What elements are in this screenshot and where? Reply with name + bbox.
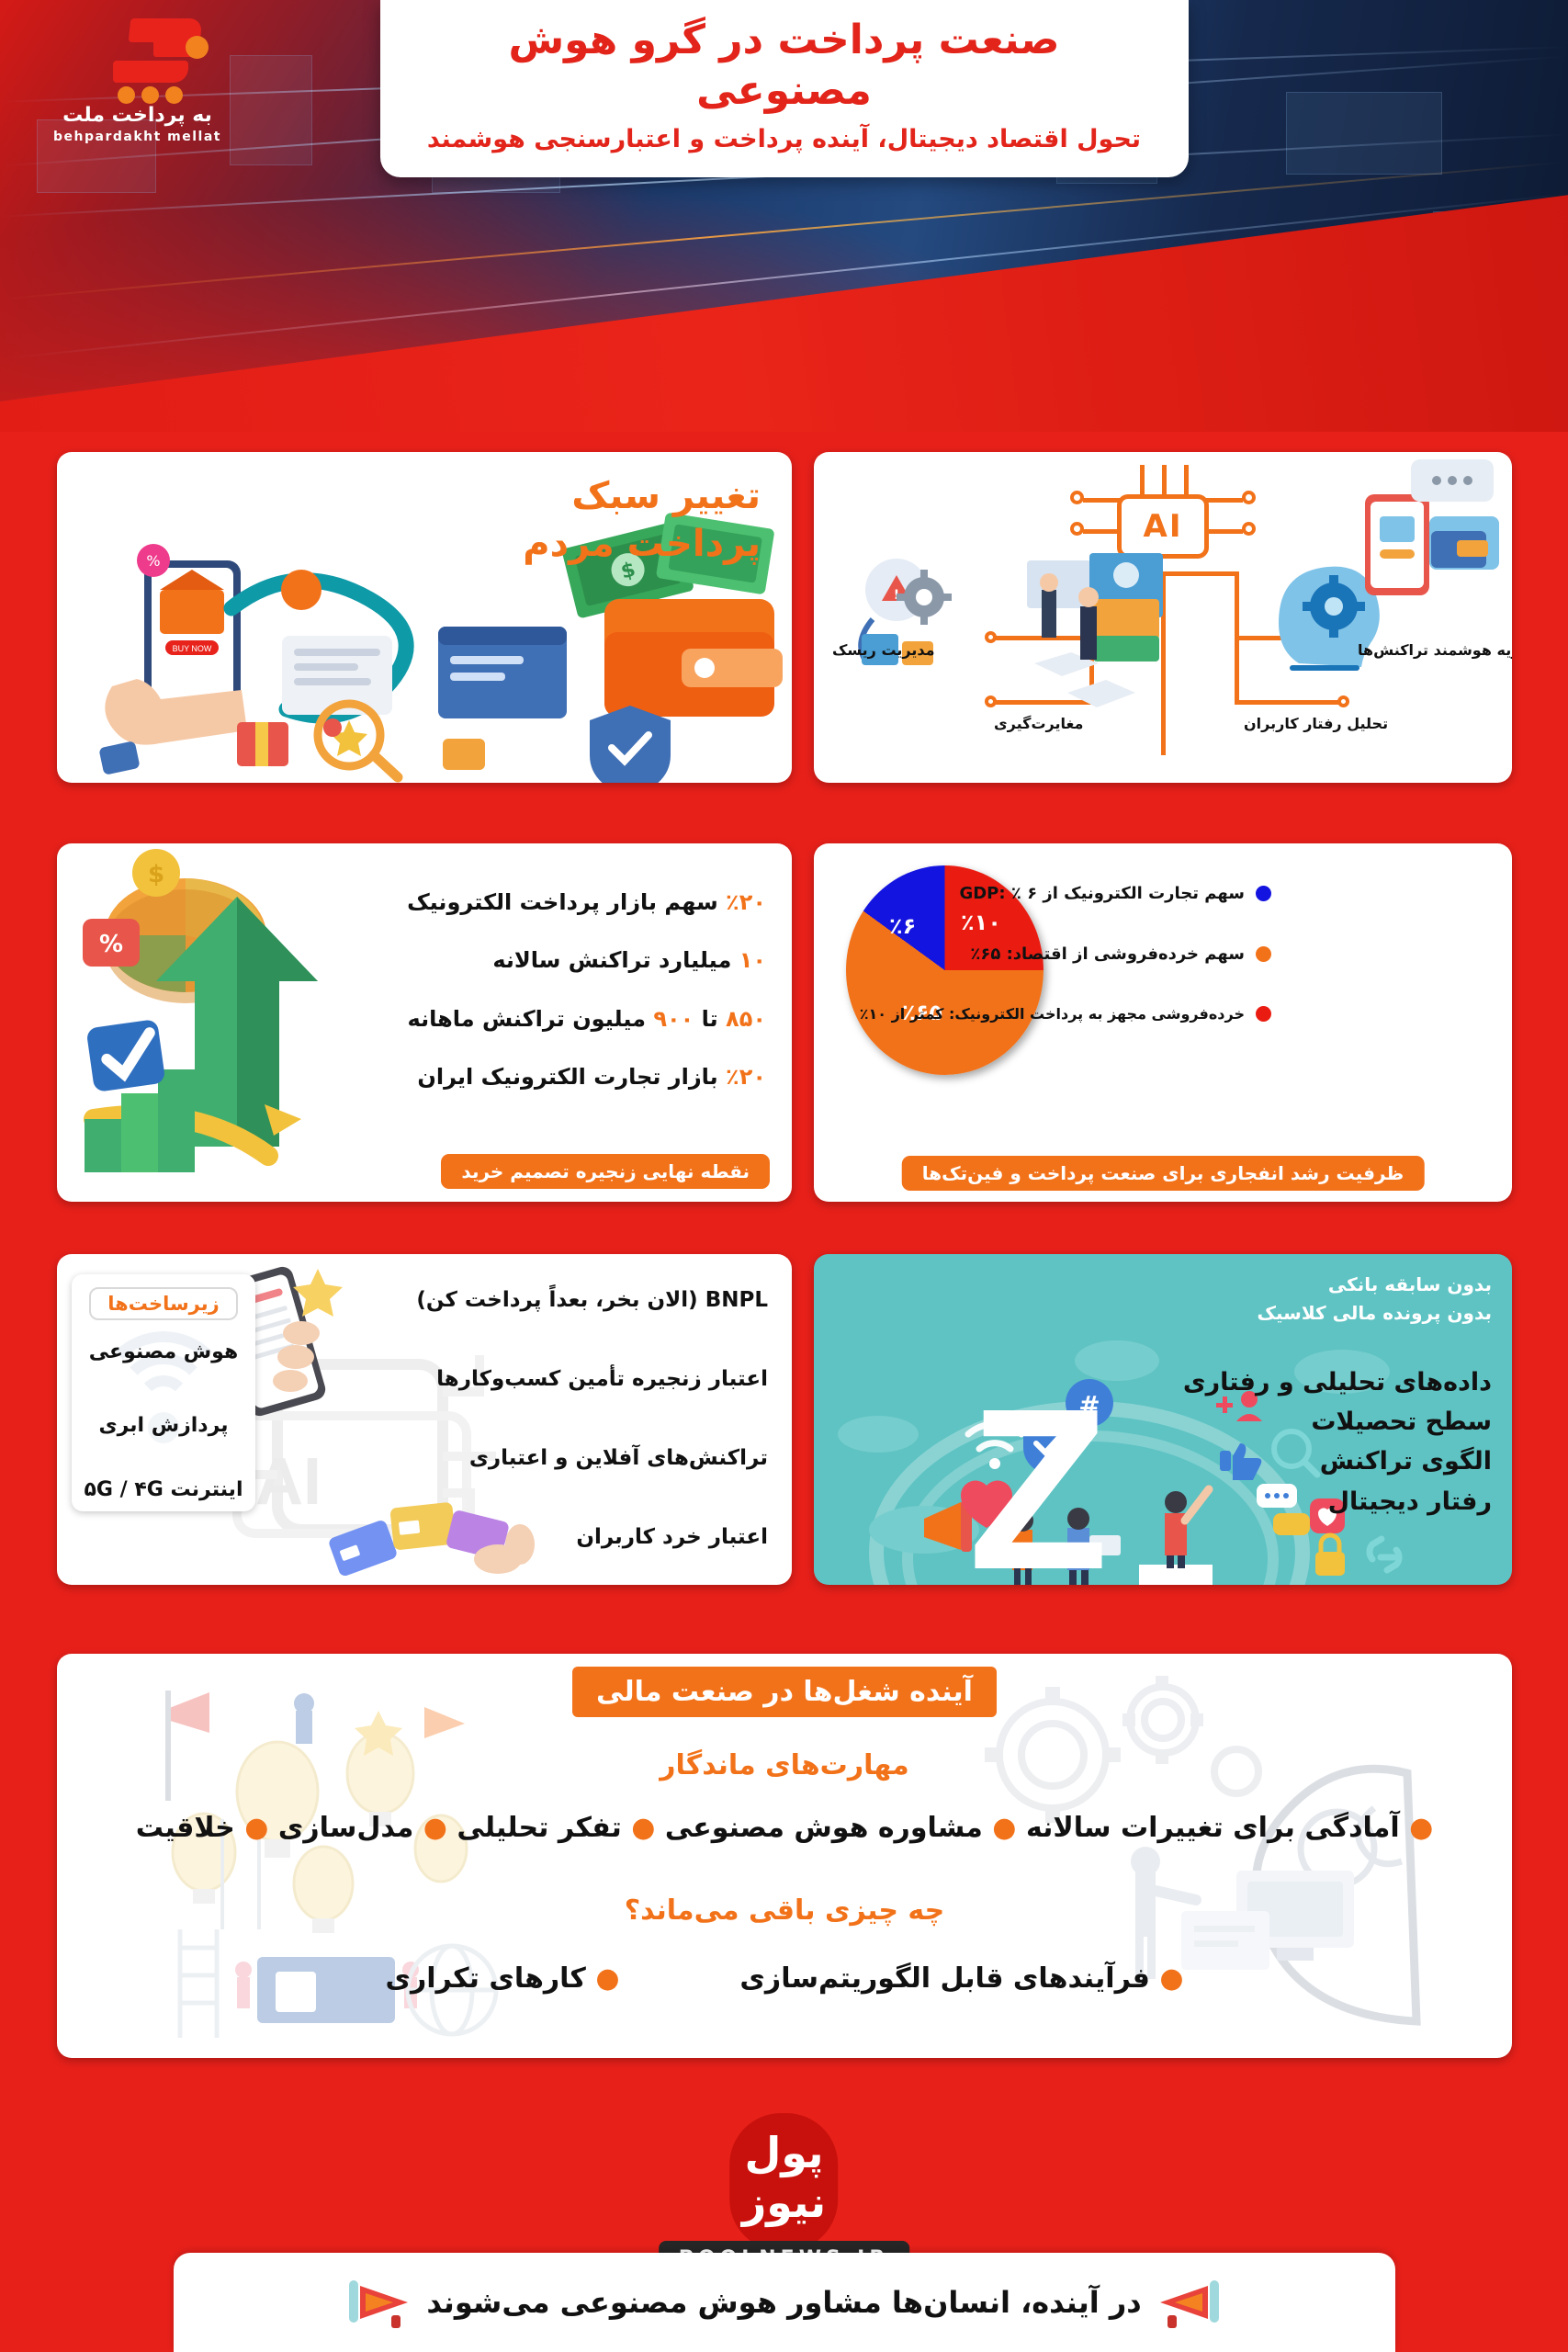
page-title: صنعت پرداخت در گرو هوش مصنوعی <box>417 15 1152 116</box>
pie-banner-wrap: ظرفیت رشد انفجاری برای صنعت پرداخت و فین… <box>902 1156 1425 1191</box>
skill-item: تفکر تحلیلی <box>457 1812 621 1844</box>
ai-label-reconciliation: مغایرت‌گیری <box>994 715 1083 732</box>
bullet-icon: ● <box>423 1812 447 1844</box>
legend-label: خرده‌فروشی مجهز به پرداخت الکترونیک: کمت… <box>860 1005 1245 1023</box>
card-ai-diagram: AI ! <box>814 452 1512 783</box>
growth-illustration: $ % <box>57 843 378 1202</box>
infra-item-cloud: پردازش ابری <box>72 1414 255 1437</box>
card-market-stats: $ % ٪۲۰ سهم بازار پرداخت الکترونیک ۱۰ می… <box>57 843 792 1202</box>
stat-row: ۱۰ میلیارد تراکنش سالانه <box>399 945 766 975</box>
future-jobs-question: چه چیزی باقی می‌ماند؟ <box>625 1894 944 1927</box>
future-jobs-title: آینده شغل‌ها در صنعت مالی <box>572 1667 997 1717</box>
megaphone-icon-right <box>1156 2278 1217 2326</box>
bnpl-row: BNPL (الان بخر، بعداً پرداخت کن) <box>336 1287 768 1315</box>
bnpl-row: تراکنش‌های آفلاین و اعتباری <box>336 1445 768 1473</box>
bullet-icon: ● <box>1409 1812 1433 1844</box>
poolnews-logo-fa: پول نیوز <box>730 2128 839 2227</box>
ideas-illustration <box>149 1654 590 2058</box>
bullet-icon: ● <box>992 1812 1016 1844</box>
bottom-banner-text: در آینده، انسان‌ها مشاور هوش مصنوعی می‌ش… <box>426 2285 1141 2320</box>
bottom-banner: در آینده، انسان‌ها مشاور هوش مصنوعی می‌ش… <box>174 2253 1395 2352</box>
behpardakht-mellat-logo: به پرداخت ملت behpardakht mellat <box>39 13 236 160</box>
logo-text-en: behpardakht mellat <box>39 130 236 144</box>
stat-number-b: ۹۰۰ <box>653 1006 694 1032</box>
card-payment-style-title: تغییر سبک پرداخت مردم <box>523 472 761 568</box>
stat-text: سهم بازار پرداخت الکترونیک <box>407 889 718 915</box>
payment-style-line1: تغییر سبک <box>571 475 761 517</box>
stat-row: ۸۵۰ تا ۹۰۰ میلیون تراکنش ماهانه <box>399 1004 766 1034</box>
stat-number-a: ۸۵۰ <box>726 1006 766 1032</box>
legend-label: سهم خرده‌فروشی از اقتصاد: ۶۵٪ <box>970 944 1245 964</box>
genz-items-list: داده‌های تحلیلی و رفتاری سطح تحصیلات الگ… <box>1183 1363 1492 1521</box>
header-banner: به پرداخت ملت behpardakht mellat صنعت پر… <box>0 0 1568 432</box>
stat-row: ٪۲۰ بازار تجارت الکترونیک ایران <box>399 1062 766 1091</box>
skill-item: مدل‌سازی <box>278 1812 413 1844</box>
infra-item-ai: هوش مصنوعی <box>72 1340 255 1363</box>
future-jobs-skills-row: ● آمادگی برای تغییرات سالانه ● مشاوره هو… <box>57 1812 1512 1844</box>
svg-text:%: % <box>99 931 123 958</box>
svg-text:$: $ <box>148 861 164 888</box>
card-future-jobs: آینده شغل‌ها در صنعت مالی مهارت‌های ماند… <box>57 1654 1512 2058</box>
page-subtitle: تحول اقتصاد دیجیتال، آینده پرداخت و اعتب… <box>417 125 1152 153</box>
skill-item: آمادگی برای تغییرات سالانه <box>1026 1812 1400 1844</box>
infrastructure-box: زیرساخت‌ها هوش مصنوعی پردازش ابری اینترن… <box>72 1274 255 1511</box>
leftover-item: فرآیندهای قابل الگوریتم‌سازی <box>739 1962 1149 1995</box>
bullet-icon: ● <box>595 1962 619 1995</box>
future-jobs-subtitle: مهارت‌های ماندگار <box>660 1749 908 1781</box>
bnpl-list: BNPL (الان بخر، بعداً پرداخت کن) اعتبار … <box>336 1287 768 1552</box>
market-stats-banner: نقطه نهایی زنجیره تصمیم خرید <box>441 1154 770 1189</box>
megaphone-icon-left <box>351 2278 412 2326</box>
stat-mid: تا <box>702 1006 718 1032</box>
title-card: صنعت پرداخت در گرو هوش مصنوعی تحول اقتصا… <box>380 0 1189 177</box>
stat-row: ٪۲۰ سهم بازار پرداخت الکترونیک <box>399 888 766 917</box>
stat-number: ٪۲۰ <box>726 889 766 915</box>
skill-item: مشاوره هوش مصنوعی <box>665 1812 983 1844</box>
bullet-icon: ● <box>244 1812 268 1844</box>
stat-text: میلیون تراکنش ماهانه <box>408 1006 646 1032</box>
logo-mark-icon <box>69 13 207 100</box>
bnpl-row: اعتبار زنجیره تأمین کسب‌وکارها <box>336 1366 768 1394</box>
genz-item: رفتار دیجیتال <box>1183 1482 1492 1521</box>
ai-label-risk: مدیریت ریسک <box>832 641 935 659</box>
legend-color-dot-blue <box>1256 886 1271 901</box>
market-stats-banner-wrap: نقطه نهایی زنجیره تصمیم خرید <box>441 1154 770 1189</box>
bnpl-row: اعتبار خرد کاربران <box>336 1524 768 1552</box>
legend-item: خرده‌فروشی مجهز به پرداخت الکترونیک: کمت… <box>886 1005 1271 1023</box>
future-jobs-leftovers-row: ● فرآیندهای قابل الگوریتم‌سازی ● کارهای … <box>57 1962 1512 1995</box>
ai-illustrations: ! <box>814 452 1512 783</box>
stat-number: ۱۰ <box>739 947 766 973</box>
leftover-item: کارهای تکراری <box>385 1962 585 1995</box>
market-stats-list: ٪۲۰ سهم بازار پرداخت الکترونیک ۱۰ میلیار… <box>399 888 766 1121</box>
infrastructure-title: زیرساخت‌ها <box>89 1287 237 1320</box>
card-payment-style: BUY NOW % $ <box>57 452 792 783</box>
svg-text:%: % <box>146 552 160 570</box>
stat-text: میلیارد تراکنش سالانه <box>492 947 731 973</box>
skill-item: خلاقیت <box>136 1812 235 1844</box>
legend-label: سهم تجارت الکترونیک از GDP: ٪ ۶ <box>959 884 1245 903</box>
legend-color-dot-red <box>1256 1006 1271 1022</box>
card-pie-chart: ٪۱۰ ٪۶ ٪۶۵ سهم تجارت الکترونیک از GDP: ٪… <box>814 843 1512 1202</box>
legend-item: سهم تجارت الکترونیک از GDP: ٪ ۶ <box>886 884 1271 903</box>
genz-item: سطح تحصیلات <box>1183 1402 1492 1442</box>
ai-label-user-behavior: تحلیل رفتار کاربران <box>1244 715 1388 732</box>
svg-text:BUY NOW: BUY NOW <box>173 644 212 653</box>
genz-item: الگوی تراکنش <box>1183 1442 1492 1481</box>
poolnews-logo-badge: پول نیوز <box>730 2113 839 2251</box>
genz-top-text: بدون سابقه بانکی بدون پرونده مالی کلاسیک <box>1258 1271 1492 1328</box>
logo-text-fa: به پرداخت ملت <box>39 104 236 127</box>
stat-text: بازار تجارت الکترونیک ایران <box>417 1064 717 1090</box>
card-bnpl: AI <box>57 1254 792 1585</box>
ai-label-smart-settlement: تسویه هوشمند تراکنش‌ها <box>1358 641 1512 659</box>
genz-top-line2: بدون پرونده مالی کلاسیک <box>1258 1299 1492 1328</box>
legend-item: سهم خرده‌فروشی از اقتصاد: ۶۵٪ <box>886 944 1271 964</box>
svg-text:AI: AI <box>255 1445 321 1519</box>
stat-number: ٪۲۰ <box>726 1064 766 1090</box>
genz-item: داده‌های تحلیلی و رفتاری <box>1183 1363 1492 1402</box>
genz-letter: Z <box>968 1397 1109 1581</box>
bullet-icon: ● <box>631 1812 655 1844</box>
genz-top-line1: بدون سابقه بانکی <box>1258 1271 1492 1299</box>
pie-legend: سهم تجارت الکترونیک از GDP: ٪ ۶ سهم خرده… <box>886 884 1271 1064</box>
infra-item-internet: اینترنت ۵G / ۴G <box>72 1478 255 1501</box>
legend-color-dot-orange <box>1256 946 1271 962</box>
bullet-icon: ● <box>1159 1962 1183 1995</box>
card-genz: # <box>814 1254 1512 1585</box>
pie-banner: ظرفیت رشد انفجاری برای صنعت پرداخت و فین… <box>902 1156 1425 1191</box>
header-decor-block <box>1286 92 1442 175</box>
payment-style-line2: پرداخت مردم <box>523 523 761 565</box>
